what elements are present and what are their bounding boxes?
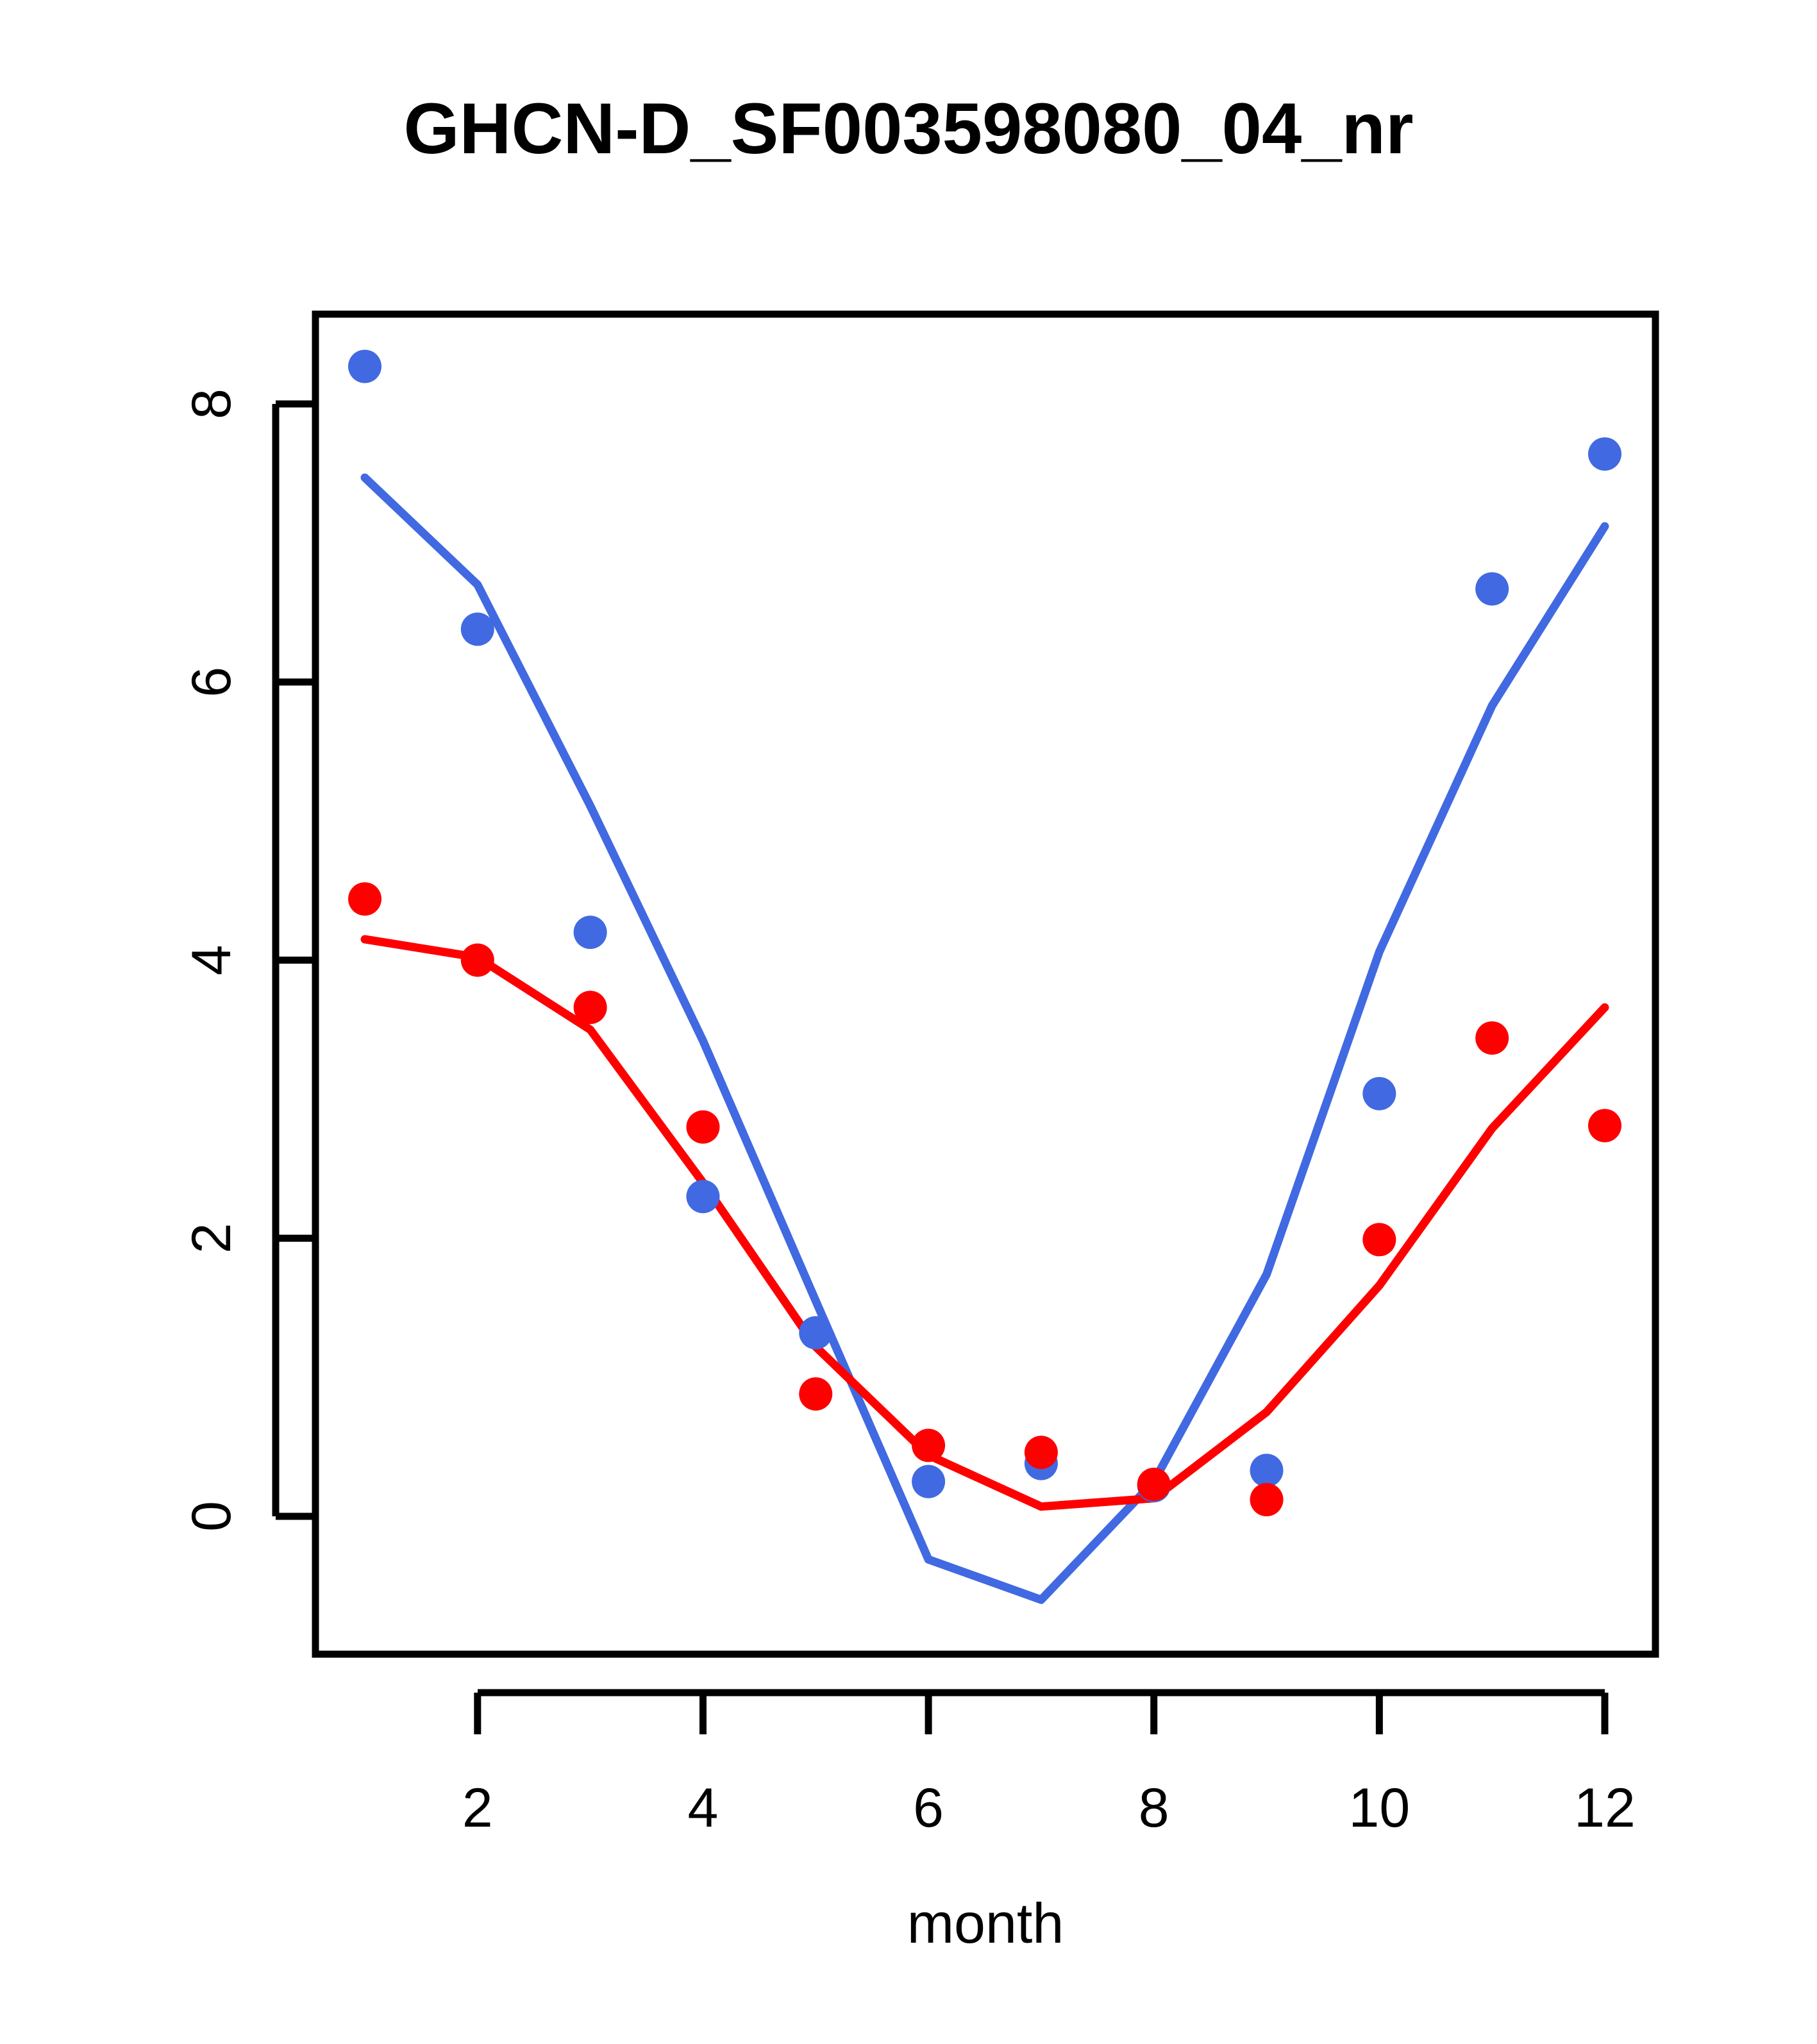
y-tick-label: 4 <box>181 945 242 976</box>
data-point <box>461 944 494 977</box>
y-axis: 02468 <box>181 389 315 1532</box>
data-point <box>1588 437 1621 471</box>
series-lines <box>365 478 1605 1600</box>
data-point <box>1250 1453 1284 1487</box>
x-tick-label: 12 <box>1574 1777 1636 1839</box>
data-point <box>1025 1436 1058 1469</box>
data-point <box>1362 1077 1396 1110</box>
data-point <box>686 1180 719 1213</box>
data-point <box>1250 1483 1284 1516</box>
data-point <box>912 1465 945 1498</box>
x-axis-title: month <box>907 1891 1064 1955</box>
data-point <box>799 1316 832 1350</box>
data-point <box>1137 1468 1171 1501</box>
data-point <box>574 991 607 1024</box>
series-points-blue-points <box>348 349 1621 1502</box>
x-tick-label: 4 <box>688 1777 719 1839</box>
x-tick-label: 2 <box>462 1777 493 1839</box>
x-tick-label: 6 <box>913 1777 944 1839</box>
series-line-red-line <box>365 939 1605 1507</box>
series-points-red-points <box>348 882 1621 1516</box>
x-tick-label: 8 <box>1139 1777 1169 1839</box>
data-point <box>1475 1021 1509 1055</box>
data-point <box>348 882 381 916</box>
data-point <box>1362 1223 1396 1256</box>
x-axis: 24681012 <box>462 1693 1636 1839</box>
series-line-blue-line <box>365 478 1605 1600</box>
data-point <box>574 916 607 949</box>
x-tick-label: 10 <box>1349 1777 1411 1839</box>
series-points <box>348 349 1621 1516</box>
data-point <box>1475 572 1509 605</box>
data-point <box>348 349 381 383</box>
y-axis-ticks <box>276 404 315 1516</box>
plot-area: 02468 24681012 month <box>0 0 1817 2044</box>
data-point <box>799 1377 832 1411</box>
x-axis-ticks <box>478 1693 1605 1734</box>
y-tick-label: 2 <box>181 1223 242 1253</box>
y-axis-tick-labels: 02468 <box>181 389 242 1532</box>
data-point <box>1588 1109 1621 1143</box>
y-tick-label: 0 <box>181 1501 242 1532</box>
x-axis-tick-labels: 24681012 <box>462 1777 1636 1839</box>
data-point <box>461 612 494 646</box>
data-point <box>686 1110 719 1144</box>
data-point <box>912 1428 945 1462</box>
chart-canvas: GHCN-D_SF003598080_04_nr 02468 24681012 … <box>0 0 1817 2044</box>
y-tick-label: 6 <box>181 667 242 698</box>
y-tick-label: 8 <box>181 389 242 419</box>
